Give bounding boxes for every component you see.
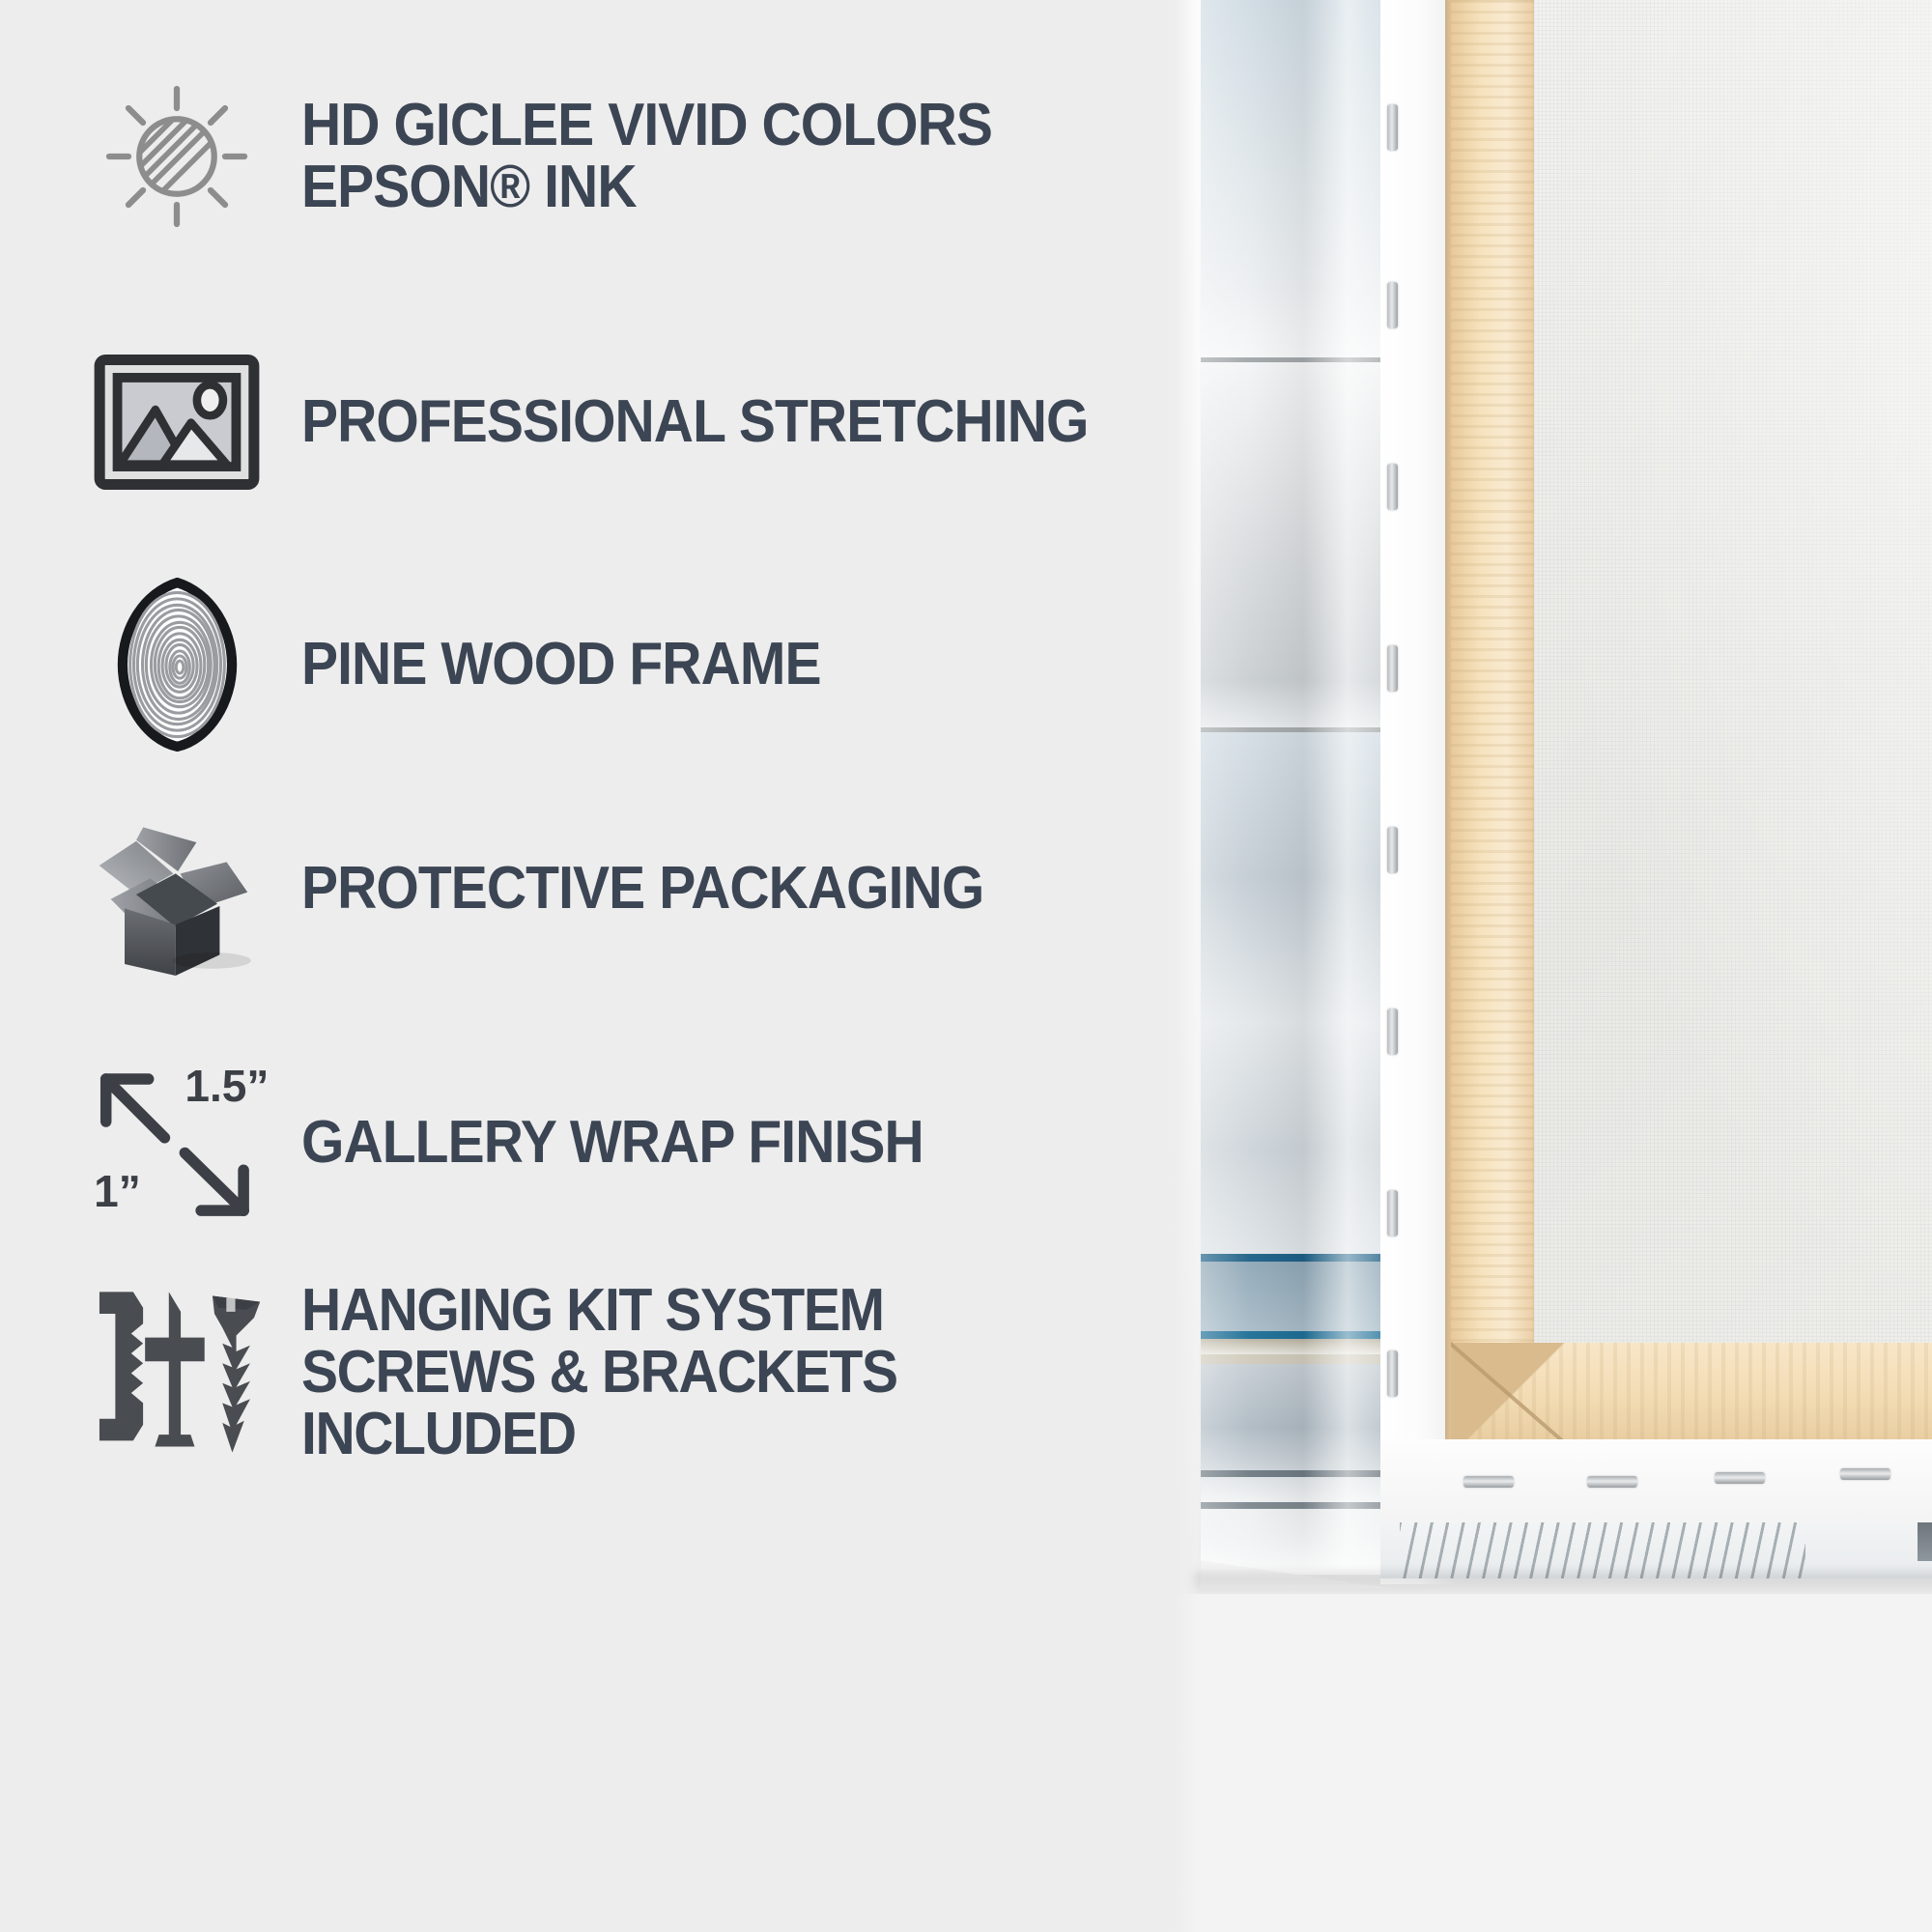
pine-stretcher-bar-vertical: [1451, 0, 1536, 1449]
staple: [1840, 1468, 1890, 1480]
bottom-wrapped-print-sliver: [1380, 1522, 1932, 1578]
feature-label: PROFESSIONAL STRETCHING: [301, 391, 1088, 453]
wood-rings-icon: [85, 584, 269, 744]
staple: [1387, 464, 1398, 510]
feature-row-protective-packaging: PROTECTIVE PACKAGING: [85, 807, 1043, 971]
sun-brightness-icon: [85, 79, 269, 234]
screws-brackets-icon: [85, 1288, 269, 1457]
photo-lower-blank-area: [1174, 1594, 1932, 1932]
picture-frame-icon: [85, 350, 269, 495]
staple: [1387, 1350, 1398, 1397]
open-box-icon: [85, 807, 269, 971]
feature-row-hanging-kit: HANGING KIT SYSTEM SCREWS & BRACKETS INC…: [85, 1280, 1188, 1465]
edge-gloss-highlight: [1201, 0, 1384, 1570]
mitre-seam-line: [1451, 1341, 1578, 1452]
canvas-wrapped-side-edge: [1201, 0, 1384, 1570]
staple: [1387, 104, 1398, 151]
staple: [1387, 1009, 1398, 1055]
dimension-arrows-icon: 1.5” 1”: [85, 1063, 269, 1222]
bottom-dark-print-area: [1918, 1522, 1932, 1561]
staple: [1587, 1476, 1637, 1488]
dimension-top-label: 1.5”: [185, 1061, 269, 1111]
feature-row-pine-wood-frame: PINE WOOD FRAME: [85, 584, 866, 744]
feature-label: HANGING KIT SYSTEM SCREWS & BRACKETS INC…: [301, 1280, 1118, 1465]
feature-row-gallery-wrap-finish: 1.5” 1” GALLERY WRAP FINISH: [85, 1063, 978, 1222]
staple: [1387, 645, 1398, 692]
product-photo: [1174, 0, 1932, 1932]
feature-label: HD GICLEE VIVID COLORS EPSON® INK: [301, 95, 992, 218]
staple: [1463, 1476, 1514, 1488]
canvas-back-sheen: [1534, 0, 1932, 1352]
feature-list: HD GICLEE VIVID COLORS EPSON® INK PROFES…: [0, 0, 1188, 1932]
feature-row-hd-giclee: HD GICLEE VIVID COLORS EPSON® INK: [85, 79, 1052, 234]
feature-label: GALLERY WRAP FINISH: [301, 1112, 923, 1174]
stretcher-return-face: [1380, 0, 1454, 1584]
staple: [1387, 1190, 1398, 1236]
feature-label: PROTECTIVE PACKAGING: [301, 858, 983, 920]
feature-row-professional-stretching: PROFESSIONAL STRETCHING: [85, 350, 1156, 495]
staple: [1715, 1472, 1765, 1484]
dimension-bottom-label: 1”: [94, 1165, 141, 1215]
staple: [1387, 827, 1398, 873]
feature-label: PINE WOOD FRAME: [301, 634, 821, 696]
staple: [1387, 282, 1398, 328]
